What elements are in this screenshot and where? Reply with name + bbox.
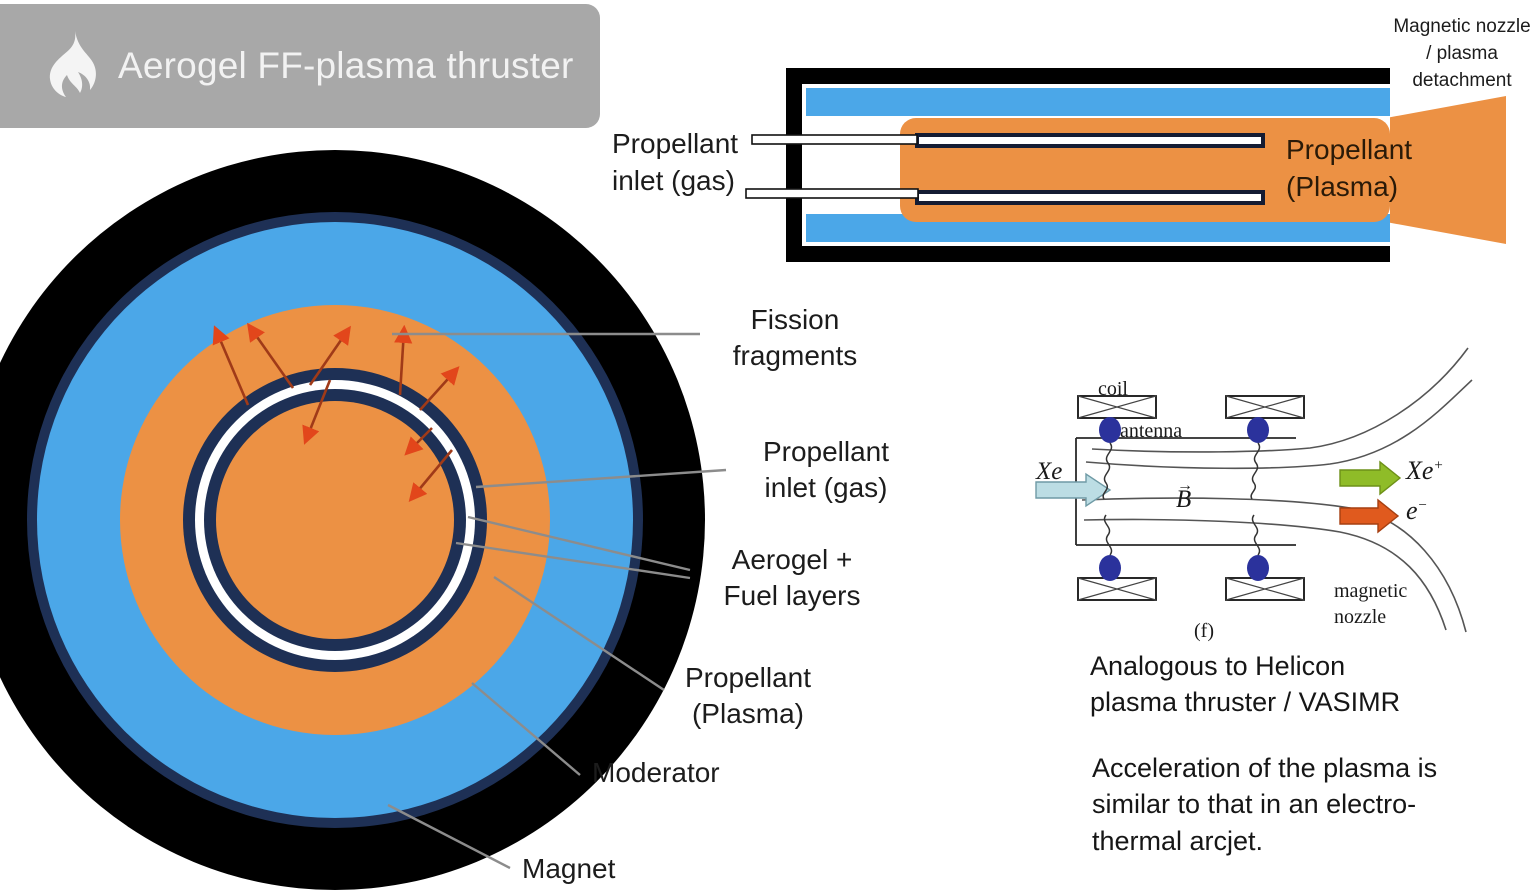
helicon-electron-label: e− (1406, 496, 1428, 526)
inlet-tube-bottom (746, 189, 918, 198)
helicon-panel-label: (f) (1194, 620, 1214, 643)
helicon-xe-ion-label: Xe+ (1406, 456, 1444, 486)
thruster-plasma-label: Propellant (Plasma) (1286, 132, 1412, 206)
callout-magnet: Magnet (522, 851, 615, 887)
thruster-inlet-label: Propellant inlet (gas) (612, 126, 738, 200)
helicon-magnetic-nozzle-label: magnetic nozzle (1334, 578, 1407, 630)
electron-arrow (1340, 500, 1398, 532)
note-paragraph-1: Analogous to Helicon plasma thruster / V… (1090, 648, 1510, 721)
xe-ion-arrow (1340, 462, 1400, 494)
helicon-antenna-label: antenna (1120, 420, 1182, 443)
callout-propellant-plasma: Propellant (Plasma) (660, 660, 836, 733)
helicon-xe-inlet-label: Xe (1036, 458, 1062, 486)
helicon-coil-label: coil (1098, 378, 1128, 401)
fuel-rod-top-core (919, 137, 1261, 144)
helicon-b-field-label: → B (1176, 486, 1191, 514)
note-paragraph-2: Acceleration of the plasma is similar to… (1092, 750, 1522, 859)
callout-fission-fragments: Fission fragments (700, 302, 890, 375)
moderator-band-top (806, 88, 1390, 116)
callout-propellant-inlet-gas: Propellant inlet (gas) (728, 434, 924, 507)
callout-moderator: Moderator (592, 755, 720, 791)
inlet-tube-top (752, 135, 917, 144)
magnetic-nozzle-label: Magnetic nozzle / plasma detachment (1388, 14, 1536, 95)
electron-symbol: e (1406, 496, 1418, 525)
callout-aerogel-fuel-layers: Aerogel + Fuel layers (692, 542, 892, 615)
xe-ion-charge: + (1433, 457, 1443, 473)
fuel-rod-bottom-core (919, 194, 1261, 201)
electron-charge: − (1418, 497, 1428, 513)
xe-ion-symbol: Xe (1406, 456, 1433, 485)
slide-root: Aerogel FF-plasma thruster (0, 0, 1536, 890)
layer-core-plasma (216, 401, 454, 639)
